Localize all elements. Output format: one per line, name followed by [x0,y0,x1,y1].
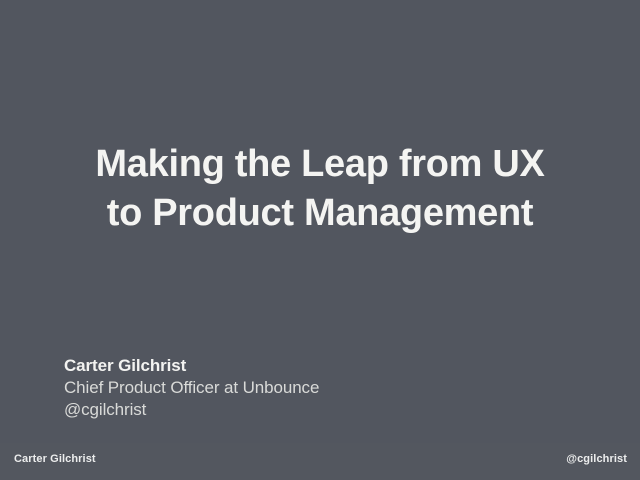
footer-speaker-name: Carter Gilchrist [14,452,96,466]
footer-handle: @cgilchrist [566,452,627,466]
speaker-byline: Carter Gilchrist Chief Product Officer a… [64,355,319,421]
slide-title: Making the Leap from UX to Product Manag… [0,140,640,238]
slide-title-line-1: Making the Leap from UX [0,140,640,189]
speaker-handle: @cgilchrist [64,399,319,421]
presentation-slide: Making the Leap from UX to Product Manag… [0,0,640,480]
speaker-role: Chief Product Officer at Unbounce [64,377,319,399]
slide-footer: Carter Gilchrist @cgilchrist [0,443,640,480]
slide-title-line-2: to Product Management [0,189,640,238]
speaker-name: Carter Gilchrist [64,355,319,377]
